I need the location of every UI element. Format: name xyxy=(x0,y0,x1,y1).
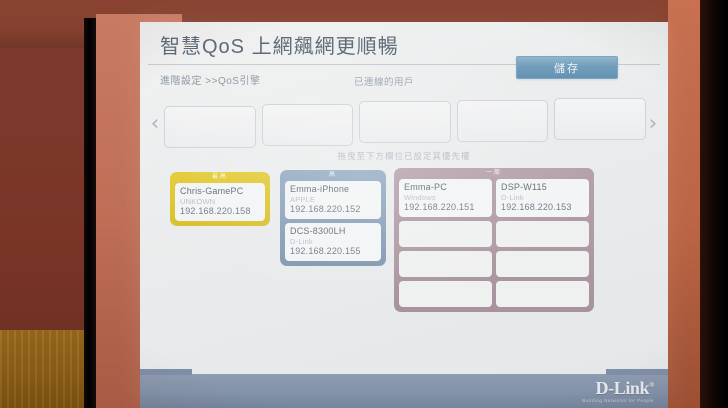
device-ip: 192.168.220.155 xyxy=(290,246,376,257)
client-slot[interactable] xyxy=(262,104,354,146)
footer-notch-right xyxy=(606,369,668,375)
priority-groups: 最高 Chris-GamePC UNKOWN 192.168.220.158 高 xyxy=(170,168,640,368)
qos-engine-page: 智慧QoS 上網飆網更順暢 進階設定 >>QoS引擎 已連線的用戶 儲存 ‹ ›… xyxy=(140,22,668,408)
wall-dark-seam xyxy=(84,18,96,408)
dlink-wordmark: D-Link® xyxy=(582,378,654,399)
device-vendor: D-Link xyxy=(290,237,376,246)
priority-group-high-label: 高 xyxy=(280,170,386,181)
projection-screen: 智慧QoS 上網飆網更順暢 進階設定 >>QoS引擎 已連線的用戶 儲存 ‹ ›… xyxy=(140,22,668,408)
carousel-prev-icon[interactable]: ‹ xyxy=(148,110,162,136)
device-ip: 192.168.220.158 xyxy=(180,206,260,217)
save-button[interactable]: 儲存 xyxy=(516,56,618,79)
device-slot-empty[interactable] xyxy=(399,221,492,247)
dlink-brand-text: D-Link xyxy=(596,378,650,398)
device-vendor: Windows xyxy=(404,193,487,202)
device-slot-empty[interactable] xyxy=(496,281,589,307)
device-ip: 192.168.220.151 xyxy=(404,202,487,213)
client-slot[interactable] xyxy=(457,100,549,142)
priority-group-highest[interactable]: 最高 Chris-GamePC UNKOWN 192.168.220.158 xyxy=(170,172,270,226)
device-ip: 192.168.220.153 xyxy=(501,202,584,213)
priority-group-high-cards: Emma-iPhone APPLE 192.168.220.152 DCS-83… xyxy=(280,181,386,266)
device-vendor: UNKOWN xyxy=(180,197,260,206)
device-card[interactable]: Emma-iPhone APPLE 192.168.220.152 xyxy=(285,181,381,219)
footer-notch-left xyxy=(140,369,192,375)
device-slot-empty[interactable] xyxy=(496,221,589,247)
wall-right-shadow xyxy=(700,0,728,408)
projected-screen-photo: 智慧QoS 上網飆網更順暢 進階設定 >>QoS引擎 已連線的用戶 儲存 ‹ ›… xyxy=(0,0,728,408)
page-footer: D-Link® Building Networks for People xyxy=(140,374,668,408)
dlink-logo: D-Link® Building Networks for People xyxy=(582,378,654,403)
device-card[interactable]: DSP-W115 D-Link 192.168.220.153 xyxy=(496,179,589,217)
device-name: Emma-PC xyxy=(404,182,487,193)
drag-hint-text: 拖曳至下方欄位已設定其優先權 xyxy=(140,150,668,162)
device-slot-empty[interactable] xyxy=(399,281,492,307)
connected-clients-carousel: ‹ › xyxy=(146,100,662,146)
carousel-next-icon[interactable]: › xyxy=(646,110,660,136)
device-card[interactable]: Emma-PC Windows 192.168.220.151 xyxy=(399,179,492,217)
priority-group-normal-grid: Emma-PC Windows 192.168.220.151 DSP-W115… xyxy=(394,179,594,312)
connected-clients-label: 已連線的用戶 xyxy=(354,74,414,88)
priority-group-highest-label: 最高 xyxy=(170,172,270,183)
device-name: Emma-iPhone xyxy=(290,184,376,195)
device-name: DSP-W115 xyxy=(501,182,584,193)
client-slot[interactable] xyxy=(359,101,451,143)
device-name: Chris-GamePC xyxy=(180,186,260,197)
device-vendor: D-Link xyxy=(501,193,584,202)
page-title: 智慧QoS 上網飆網更順暢 xyxy=(160,30,399,59)
device-ip: 192.168.220.152 xyxy=(290,204,376,215)
dlink-tagline: Building Networks for People xyxy=(582,398,654,403)
device-slot-empty[interactable] xyxy=(496,251,589,277)
device-name: DCS-8300LH xyxy=(290,226,376,237)
carousel-slot-row xyxy=(164,100,646,146)
priority-group-normal-label: 一般 xyxy=(394,168,594,179)
client-slot[interactable] xyxy=(164,106,256,148)
device-card[interactable]: DCS-8300LH D-Link 192.168.220.155 xyxy=(285,223,381,261)
priority-group-high[interactable]: 高 Emma-iPhone APPLE 192.168.220.152 DCS-… xyxy=(280,170,386,266)
client-slot[interactable] xyxy=(554,98,646,140)
device-vendor: APPLE xyxy=(290,195,376,204)
device-slot-empty[interactable] xyxy=(399,251,492,277)
registered-mark-icon: ® xyxy=(649,381,654,389)
breadcrumb: 進階設定 >>QoS引擎 xyxy=(160,72,260,87)
priority-group-highest-cards: Chris-GamePC UNKOWN 192.168.220.158 xyxy=(170,183,270,226)
device-card[interactable]: Chris-GamePC UNKOWN 192.168.220.158 xyxy=(175,183,265,221)
priority-group-normal[interactable]: 一般 Emma-PC Windows 192.168.220.151 DSP-W… xyxy=(394,168,594,312)
